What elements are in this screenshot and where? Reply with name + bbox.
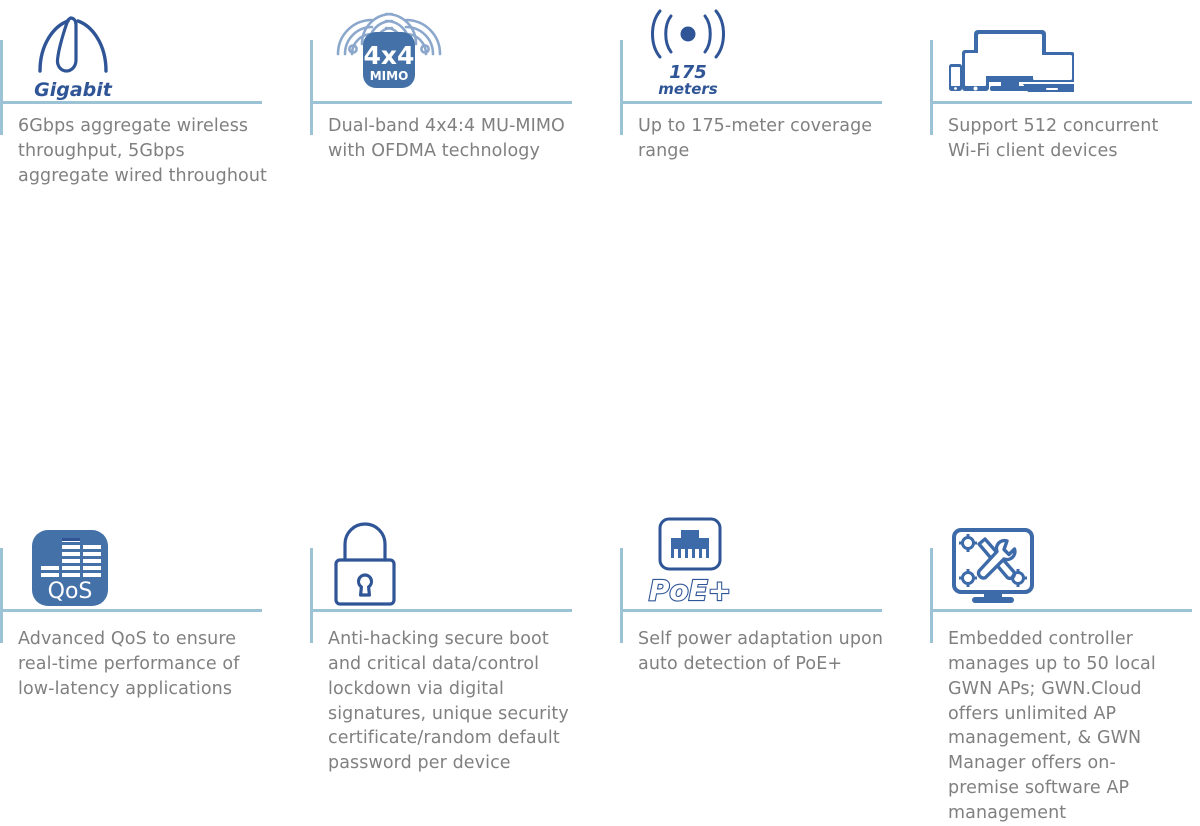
padlock-icon: [328, 508, 568, 608]
mimo-4x4-icon: 4x4 MIMO: [328, 0, 568, 100]
feature-card-security: Anti-hacking secure boot and critical da…: [310, 255, 620, 526]
gigabit-antenna-icon: Gigabit: [18, 0, 258, 100]
feature-description: Advanced QoS to ensure real-time perform…: [18, 627, 268, 702]
feature-card-poe: PoE+ Self power adaptation upon auto det…: [620, 255, 930, 526]
feature-card-gigabit: Gigabit 6Gbps aggregate wireless through…: [0, 0, 310, 255]
horizontal-divider: [620, 609, 882, 612]
feature-card-controller: Embedded controller manages up to 50 loc…: [930, 255, 1200, 526]
horizontal-divider: [0, 101, 262, 104]
qos-equalizer-icon: QoS: [18, 508, 258, 608]
vertical-divider: [930, 40, 933, 135]
feature-card-clients: Support 512 concurrent Wi-Fi client devi…: [930, 0, 1200, 255]
horizontal-divider: [620, 101, 882, 104]
horizontal-divider: [310, 101, 572, 104]
feature-description: Embedded controller manages up to 50 loc…: [948, 627, 1178, 826]
feature-card-qos: QoS Advanced QoS to ensure real-time per…: [0, 255, 310, 526]
feature-description: Self power adaptation upon auto detectio…: [638, 627, 888, 677]
feature-description: Dual-band 4x4:4 MU-MIMO with OFDMA techn…: [328, 114, 578, 164]
monitor-tools-icon: [948, 508, 1188, 608]
horizontal-divider: [310, 609, 572, 612]
mimo-icon-label: 4x4: [364, 41, 415, 70]
feature-card-coverage: 175 meters Up to 175-meter coverage rang…: [620, 0, 930, 255]
qos-icon-label: QoS: [48, 579, 93, 604]
signal-range-icon: 175 meters: [638, 0, 878, 100]
feature-grid: Gigabit 6Gbps aggregate wireless through…: [0, 0, 1200, 526]
vertical-divider: [310, 40, 313, 135]
horizontal-divider: [930, 609, 1192, 612]
vertical-divider: [0, 548, 3, 643]
feature-description: Up to 175-meter coverage range: [638, 114, 888, 164]
vertical-divider: [310, 548, 313, 643]
feature-card-mimo: 4x4 MIMO Dual-band 4x4:4 MU-MIMO with OF…: [310, 0, 620, 255]
vertical-divider: [0, 40, 3, 135]
horizontal-divider: [930, 101, 1192, 104]
mimo-icon-sublabel: MIMO: [370, 69, 409, 83]
horizontal-divider: [0, 609, 262, 612]
feature-description: 6Gbps aggregate wireless throughput, 5Gb…: [18, 114, 268, 189]
range-icon-sublabel: meters: [658, 80, 718, 98]
vertical-divider: [930, 548, 933, 643]
feature-description: Anti-hacking secure boot and critical da…: [328, 627, 578, 776]
poe-icon-label: PoE+: [649, 574, 731, 607]
ethernet-port-icon: PoE+: [638, 508, 878, 608]
feature-description: Support 512 concurrent Wi-Fi client devi…: [948, 114, 1178, 164]
vertical-divider: [620, 40, 623, 135]
vertical-divider: [620, 548, 623, 643]
gigabit-icon-label: Gigabit: [34, 79, 113, 100]
multi-device-icon: [948, 0, 1188, 100]
